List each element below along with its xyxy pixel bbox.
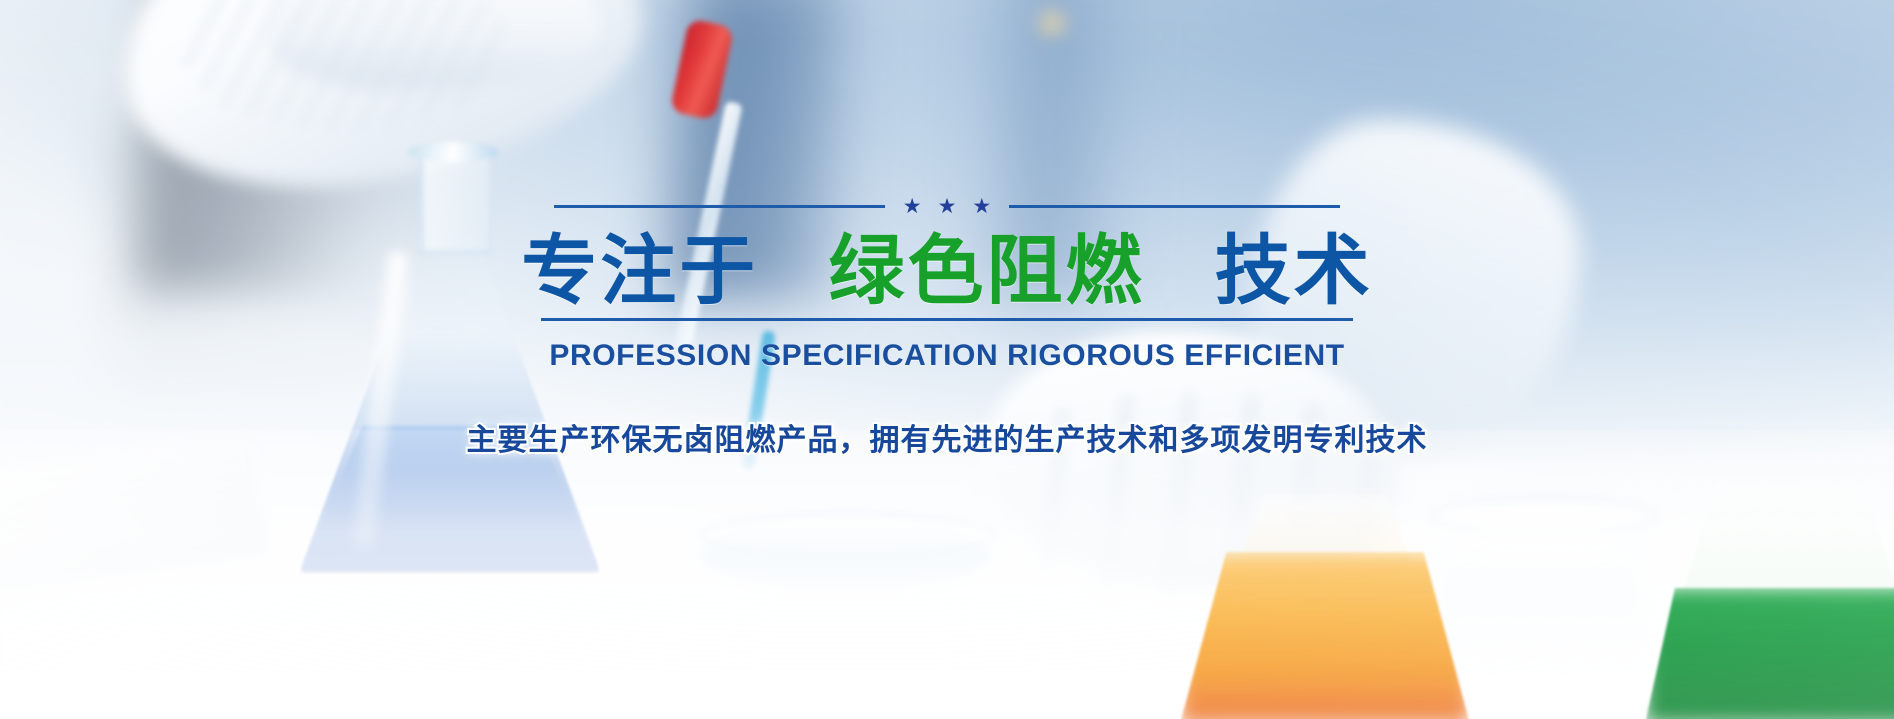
banner-text-block: ★ ★ ★ 专注于 绿色阻燃 技术 PROFESSION SPECIFICATI… [0,196,1894,459]
hero-banner: ★ ★ ★ 专注于 绿色阻燃 技术 PROFESSION SPECIFICATI… [0,0,1894,719]
divider-rule-left [554,205,885,208]
star-divider: ★ ★ ★ [554,196,1340,216]
headline-segment-1: 专注于 [521,229,758,314]
divider-rule-right [1009,205,1340,208]
lab-coat-button [1035,8,1069,38]
flask-orange-liquid [1180,552,1470,719]
star-icon: ★ [972,196,991,217]
headline-underline [541,318,1353,321]
headline-segment-3: 技术 [1215,229,1373,314]
erlenmeyer-flask-rim [408,142,498,162]
headline-segment-2: 绿色阻燃 [829,229,1145,314]
star-icon: ★ [938,196,957,217]
tagline: 主要生产环保无卤阻燃产品，拥有先进的生产技术和多项发明专利技术 [467,415,1428,459]
flask-green-liquid [1645,588,1894,719]
lab-bench-surface [0,430,1894,719]
star-icon: ★ [903,196,922,217]
divider-stars: ★ ★ ★ [885,196,1009,217]
headline: 专注于 绿色阻燃 技术 [521,234,1373,310]
subtitle: PROFESSION SPECIFICATION RIGOROUS EFFICI… [549,339,1344,373]
